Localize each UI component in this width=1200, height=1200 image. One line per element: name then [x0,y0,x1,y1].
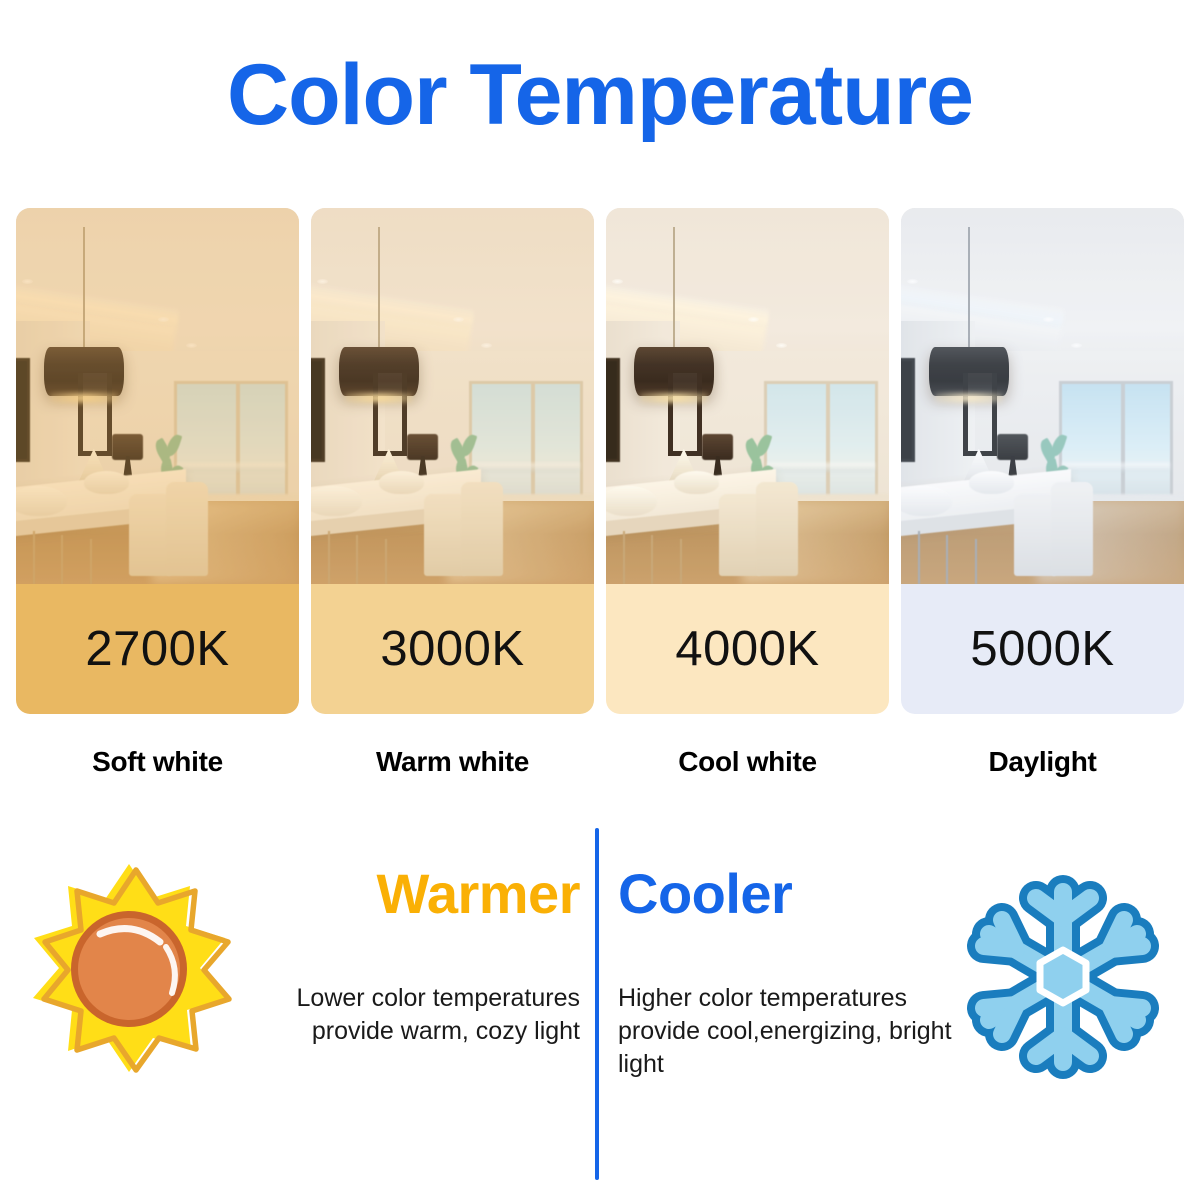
glow-overlay [311,208,594,584]
page-title: Color Temperature [0,52,1200,138]
glow-overlay [901,208,1184,584]
room-photo-5000k [901,208,1184,584]
temperature-panel-4000k[interactable]: 4000K [606,208,889,714]
kelvin-value: 5000K [970,625,1114,674]
room-photo-3000k [311,208,594,584]
temperature-panel-row: 2700K [16,208,1184,714]
caption-row: Soft white Warm white Cool white Dayligh… [16,746,1184,778]
cooler-description: Higher color temperatures provide cool,e… [618,982,958,1081]
swatch-4000k: 4000K [606,584,889,714]
snowflake-icon [948,862,1178,1087]
temperature-panel-3000k[interactable]: 3000K [311,208,594,714]
caption-cool-white: Cool white [606,746,889,778]
swatch-3000k: 3000K [311,584,594,714]
caption-daylight: Daylight [901,746,1184,778]
cooler-label: Cooler [618,866,918,922]
glow-overlay [606,208,889,584]
vertical-divider [595,828,599,1180]
room-photo-4000k [606,208,889,584]
kelvin-value: 4000K [675,625,819,674]
swatch-2700k: 2700K [16,584,299,714]
glow-overlay [16,208,299,584]
kelvin-value: 2700K [85,625,229,674]
room-photo-2700k [16,208,299,584]
kelvin-value: 3000K [380,625,524,674]
swatch-5000k: 5000K [901,584,1184,714]
caption-warm-white: Warm white [311,746,594,778]
caption-soft-white: Soft white [16,746,299,778]
temperature-panel-5000k[interactable]: 5000K [901,208,1184,714]
warmer-description: Lower color temperatures provide warm, c… [250,982,580,1048]
warmer-label: Warmer [280,866,580,922]
sun-icon [14,850,244,1080]
temperature-panel-2700k[interactable]: 2700K [16,208,299,714]
